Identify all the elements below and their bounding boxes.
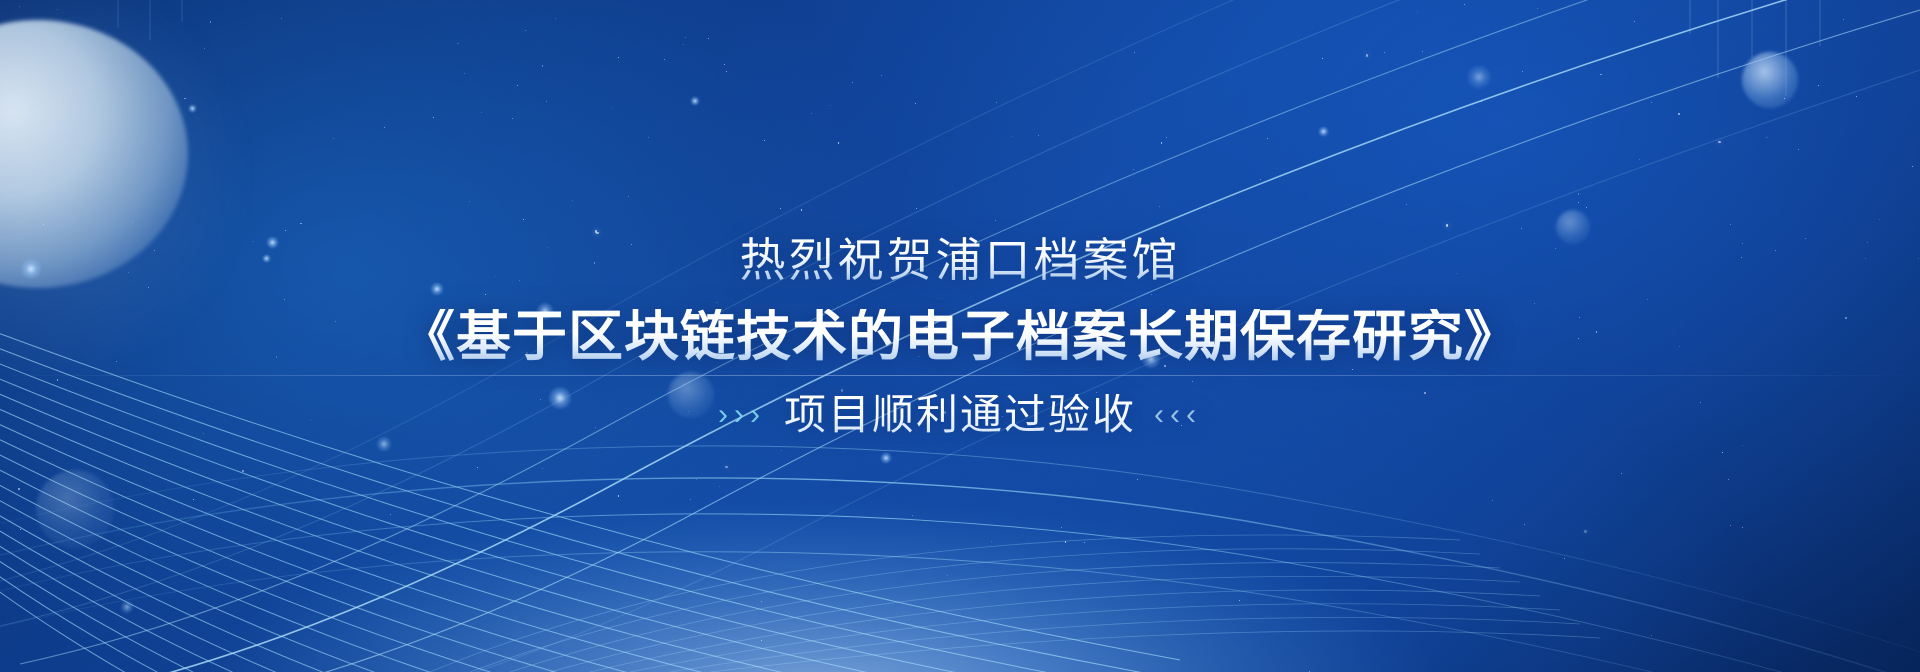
project-title: 《基于区块链技术的电子档案长期保存研究》: [400, 309, 1520, 364]
triple-chevron-right-icon: ›››: [718, 398, 766, 432]
headline-congratulation: 热烈祝贺浦口档案馆: [740, 237, 1181, 283]
banner-root: 热烈祝贺浦口档案馆 《基于区块链技术的电子档案长期保存研究》 ››› 项目顺利通…: [0, 0, 1920, 672]
status-line: ››› 项目顺利通过验收 ‹‹‹: [718, 394, 1202, 436]
banner-content: 热烈祝贺浦口档案馆 《基于区块链技术的电子档案长期保存研究》 ››› 项目顺利通…: [0, 0, 1920, 672]
triple-chevron-left-icon: ‹‹‹: [1154, 398, 1202, 432]
status-text: 项目顺利通过验收: [784, 394, 1136, 436]
